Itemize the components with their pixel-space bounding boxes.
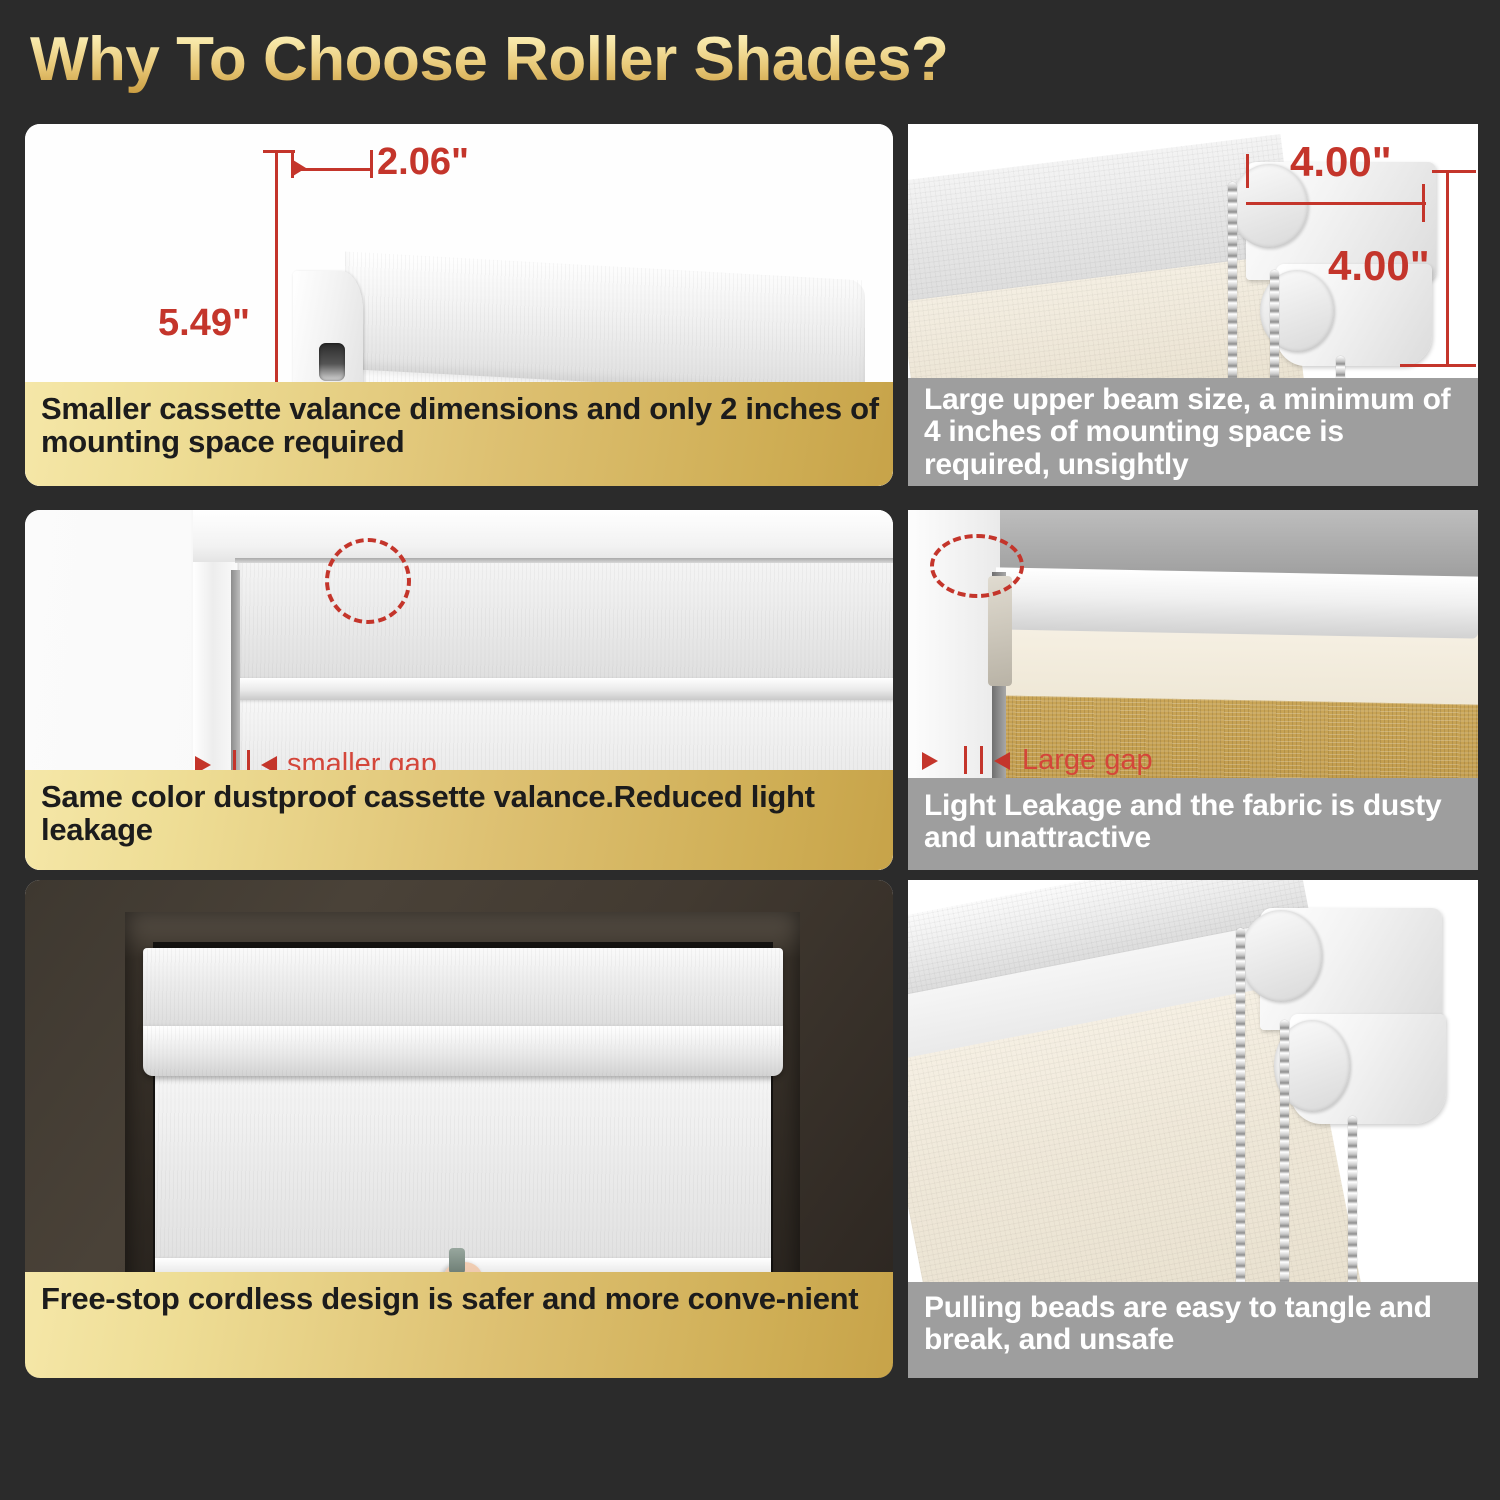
gap-marker-b [980, 746, 983, 774]
page-title: Why To Choose Roller Shades? [30, 24, 948, 95]
panel-6-caption: Pulling beads are easy to tangle and bre… [908, 1282, 1478, 1378]
bead-bracket-roller-upper [1240, 910, 1322, 1002]
panel-5-caption: Free-stop cordless design is safer and m… [25, 1272, 893, 1378]
shade-mid-rail [238, 678, 893, 700]
dim-tick-v-bottom [1400, 364, 1476, 367]
panel-smaller-gap: smaller gap Same color dustproof cassett… [25, 510, 893, 870]
roller-shade-valance-lower [143, 1026, 783, 1076]
panel-cordless-design: Free-stop cordless design is safer and m… [25, 880, 893, 1378]
dim-line-beam-width [1246, 202, 1426, 205]
dim-line-beam-height [1446, 170, 1449, 366]
roller-shade-valance-upper [143, 948, 783, 1030]
gap-label-large: Large gap [1022, 744, 1153, 777]
dim-tick-h-left [1246, 154, 1249, 188]
panel-large-upper-beam: 4.00" 4.00" Large upper beam size, a min… [908, 124, 1478, 486]
panel-large-gap: Large gap Light Leakage and the fabric i… [908, 510, 1478, 870]
panel-3-caption: Same color dustproof cassette valance.Re… [25, 770, 893, 870]
dim-arrow-right [293, 160, 306, 176]
dimension-label-beam-height: 4.00" [1328, 242, 1430, 290]
panel-2-caption: Large upper beam size, a minimum of 4 in… [908, 378, 1478, 486]
panel-pulling-beads: Pulling beads are easy to tangle and bre… [908, 880, 1478, 1378]
dim-tick-v-top [1432, 170, 1476, 173]
gap-highlight-circle [930, 534, 1024, 598]
gap-marker-a [964, 746, 967, 774]
panel-1-caption: Smaller cassette valance dimensions and … [25, 382, 893, 486]
gap-arrow-right [994, 752, 1010, 770]
panel-4-caption: Light Leakage and the fabric is dusty an… [908, 778, 1478, 870]
window-head-frame [193, 510, 893, 562]
gap-arrow-left [922, 752, 938, 770]
title-bar: Why To Choose Roller Shades? [0, 0, 1500, 118]
dimension-label-height: 5.49" [158, 302, 250, 345]
gap-highlight-circle [325, 538, 411, 624]
dimension-label-beam-width: 4.00" [1290, 138, 1392, 186]
head-rail-tube [996, 567, 1478, 638]
dim-tick-top [263, 150, 295, 153]
roller-shade-fabric [155, 1070, 771, 1264]
dim-tick-right-top [370, 150, 373, 178]
panel-smaller-cassette: 2.06" 5.49" Smaller cassette valance dim… [25, 124, 893, 486]
dimension-label-width: 2.06" [377, 141, 469, 184]
